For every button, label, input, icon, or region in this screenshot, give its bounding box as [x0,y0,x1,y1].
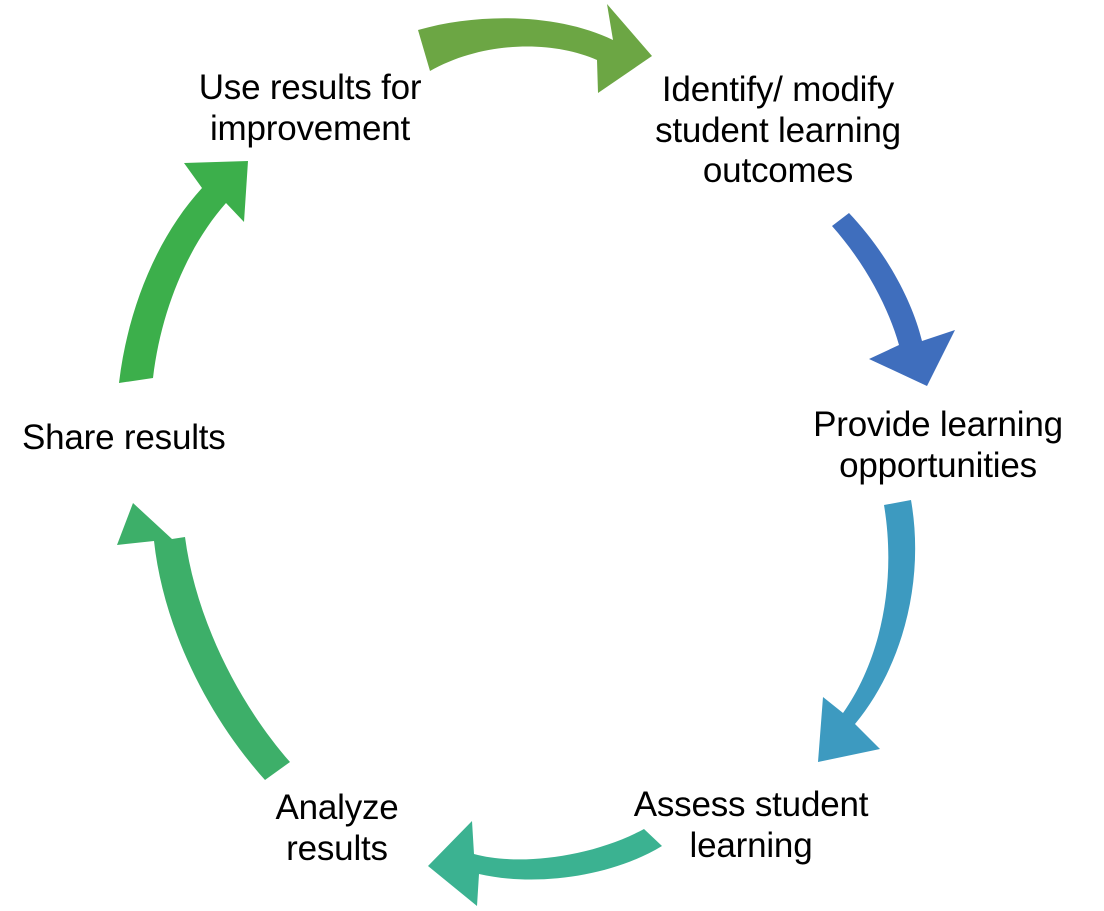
arrow-share-to-use [119,161,248,383]
blue-arrow-right-upper-shape [832,213,955,386]
arrow-identify-to-provide [832,213,955,386]
green-olive-arrow-top-shape [418,4,652,93]
arrow-analyze-to-share [117,503,290,780]
step-label-assess-student-learning: Assess student learning [616,785,886,866]
assessment-cycle-diagram: Use results for improvement Identify/ mo… [0,0,1104,911]
green-arrow-left-upper-shape [119,161,248,383]
step-label-share-results: Share results [22,418,262,459]
step-label-use-results-for-improvement: Use results for improvement [185,68,435,149]
step-label-analyze-results: Analyze results [262,788,412,869]
arrow-use-to-identify [418,4,652,93]
step-label-identify-modify-student-learning-outcomes: Identify/ modify student learning outcom… [633,70,923,192]
teal-blue-arrow-right-lower-shape [818,500,915,762]
green-arrow-left-lower-shape [117,503,290,780]
step-label-provide-learning-opportunities: Provide learning opportunities [793,405,1083,486]
arrow-provide-to-assess [818,500,915,762]
